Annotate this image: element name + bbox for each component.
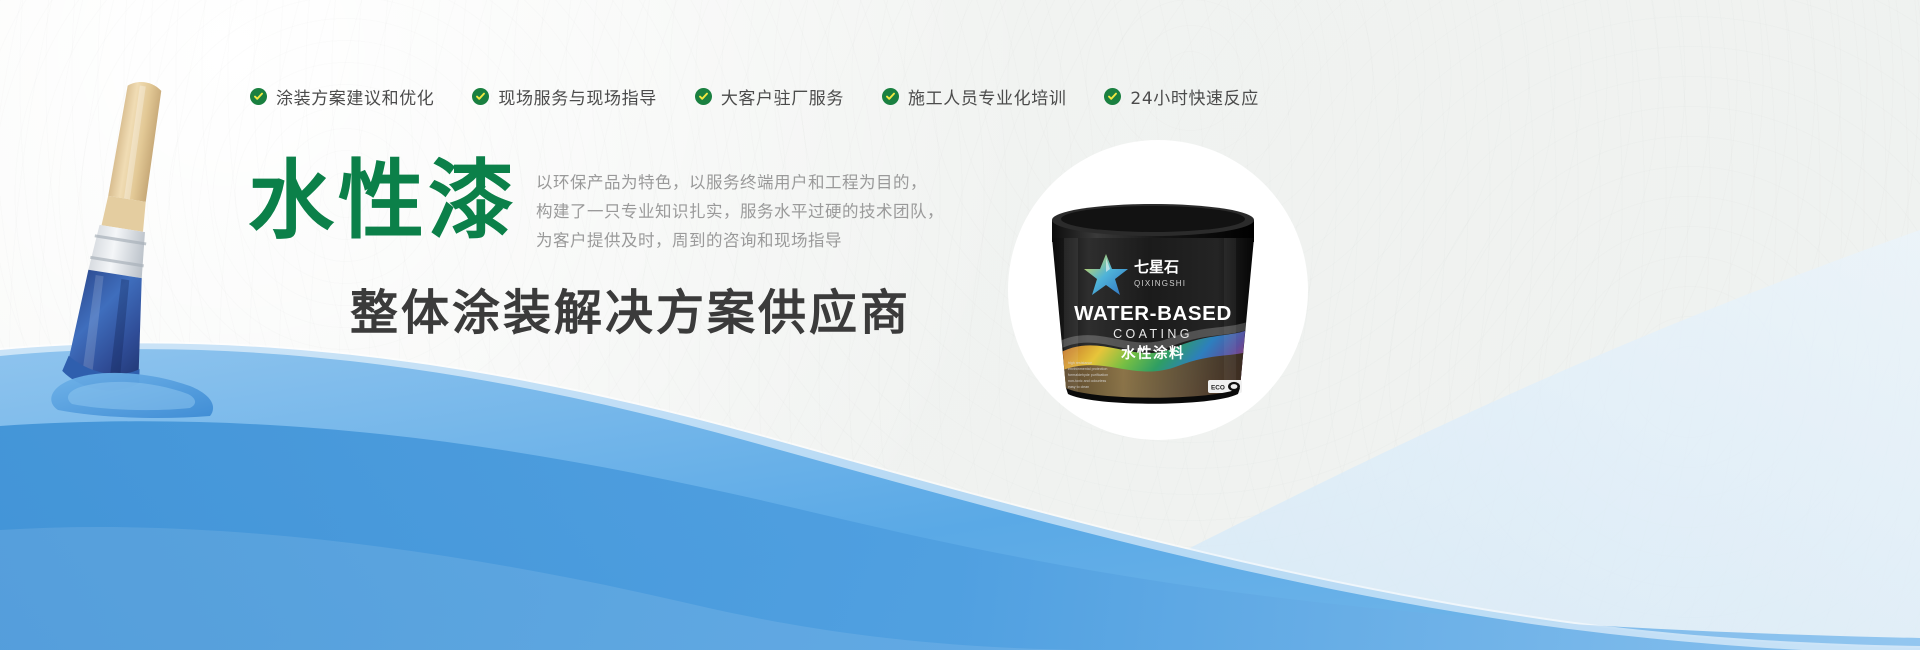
subheadline: 整体涂装解决方案供应商: [350, 285, 911, 341]
feature-item[interactable]: 24小时快速反应: [1104, 84, 1258, 109]
paint-brush-illustration: [40, 80, 220, 420]
check-circle-icon: [472, 88, 489, 105]
description-line: 构建了一只专业知识扎实，服务水平过硬的技术团队，: [536, 197, 944, 226]
feature-label: 大客户驻厂服务: [721, 84, 844, 109]
feature-label: 施工人员专业化培训: [908, 84, 1066, 109]
page-title: 水性漆: [248, 158, 518, 244]
product-subtitle-en: COATING: [1113, 327, 1193, 341]
check-circle-icon: [882, 88, 899, 105]
feature-item[interactable]: 涂装方案建议和优化: [250, 84, 434, 109]
product-spec-line: non-toxic and odourless: [1068, 379, 1106, 383]
product-bucket-image: 七星石 QIXINGSHI WATER-BASED COATING 水性涂料 h…: [1028, 188, 1278, 423]
svg-text:ECO: ECO: [1211, 385, 1225, 392]
blue-wave-decoration: [0, 230, 1920, 650]
description-paragraph: 以环保产品为特色，以服务终端用户和工程为目的， 构建了一只专业知识扎实，服务水平…: [536, 168, 944, 255]
headline-row: 水性漆 以环保产品为特色，以服务终端用户和工程为目的， 构建了一只专业知识扎实，…: [248, 158, 944, 255]
feature-item[interactable]: 现场服务与现场指导: [472, 84, 656, 109]
feature-item[interactable]: 大客户驻厂服务: [695, 84, 844, 109]
feature-list: 涂装方案建议和优化 现场服务与现场指导 大客户驻厂服务 施工人员专业化培训 24: [250, 84, 1259, 109]
product-spec-line: easy to clean: [1068, 385, 1089, 389]
check-circle-icon: [1104, 88, 1121, 105]
feature-label: 现场服务与现场指导: [498, 84, 656, 109]
product-brand-cn: 七星石: [1134, 259, 1179, 276]
check-circle-icon: [695, 88, 712, 105]
product-brand-en: QIXINGSHI: [1134, 279, 1186, 288]
feature-label: 涂装方案建议和优化: [276, 84, 434, 109]
description-line: 以环保产品为特色，以服务终端用户和工程为目的，: [536, 168, 944, 197]
check-circle-icon: [250, 88, 267, 105]
hero-banner: 涂装方案建议和优化 现场服务与现场指导 大客户驻厂服务 施工人员专业化培训 24: [0, 0, 1920, 650]
feature-item[interactable]: 施工人员专业化培训: [882, 84, 1066, 109]
product-title-cn: 水性涂料: [1121, 344, 1185, 362]
description-line: 为客户提供及时，周到的咨询和现场指导: [536, 226, 944, 255]
product-title-en: WATER-BASED: [1074, 302, 1232, 325]
feature-label: 24小时快速反应: [1130, 84, 1258, 109]
product-spec-line: formaldehyde purification: [1068, 373, 1108, 377]
product-spec-line: high resistance: [1068, 361, 1092, 365]
product-spec-line: environmental protection: [1068, 367, 1107, 371]
